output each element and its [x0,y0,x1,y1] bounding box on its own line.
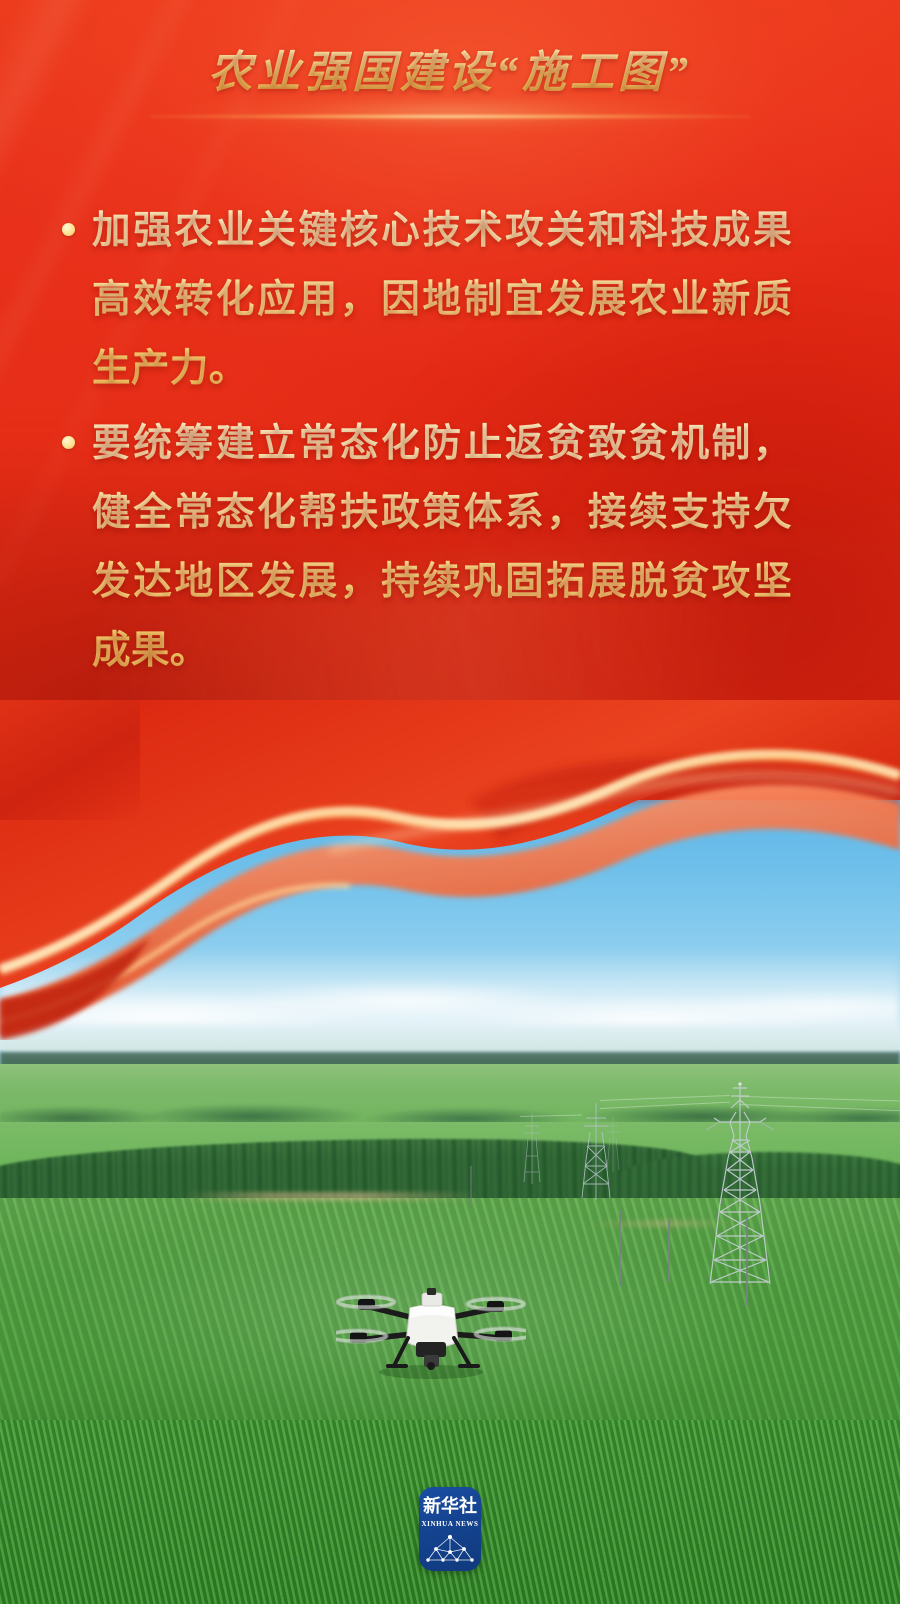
title-divider-glow [180,100,720,126]
title-divider [150,114,750,119]
poster-root: 农业强国建设“施工图” 加强农业关键核心技术攻关和科技成果高效转化应用，因地制宜… [0,0,900,1604]
list-item: 要统筹建立常态化防止返贫致贫机制，健全常态化帮扶政策体系，接续支持欠发达地区发展… [62,409,852,685]
agricultural-drone [336,1272,526,1382]
power-transmission-tower [700,1078,780,1308]
logo-cn-text: 新华社 [419,1496,481,1516]
bullet-list: 加强农业关键核心技术攻关和科技成果高效转化应用，因地制宜发展农业新质生产力。 要… [62,196,852,691]
bullet-dot-icon [62,436,75,449]
network-dome-icon [424,1532,476,1568]
utility-pole [746,1218,748,1306]
utility-pole [619,1210,621,1286]
bullet-text: 要统筹建立常态化防止返贫致贫机制，健全常态化帮扶政策体系，接续支持欠发达地区发展… [92,409,792,685]
power-transmission-tower [604,1114,622,1176]
power-transmission-tower [520,1112,544,1190]
utility-pole [470,1166,472,1206]
poster-title-wrap: 农业强国建设“施工图” [0,36,900,100]
bullet-dot-icon [62,223,75,236]
bullet-text: 加强农业关键核心技术攻关和科技成果高效转化应用，因地制宜发展农业新质生产力。 [92,196,792,403]
xinhua-logo: 新华社 XINHUA NEWS [419,1487,481,1571]
soil-strip [180,1192,480,1201]
field-photograph [0,800,900,1604]
list-item: 加强农业关键核心技术攻关和科技成果高效转化应用，因地制宜发展农业新质生产力。 [62,196,852,403]
page-title: 农业强国建设“施工图” [208,36,692,100]
silk-corner-wedge [0,700,140,820]
logo-en-text: XINHUA NEWS [419,1520,481,1528]
utility-pole [668,1220,670,1282]
